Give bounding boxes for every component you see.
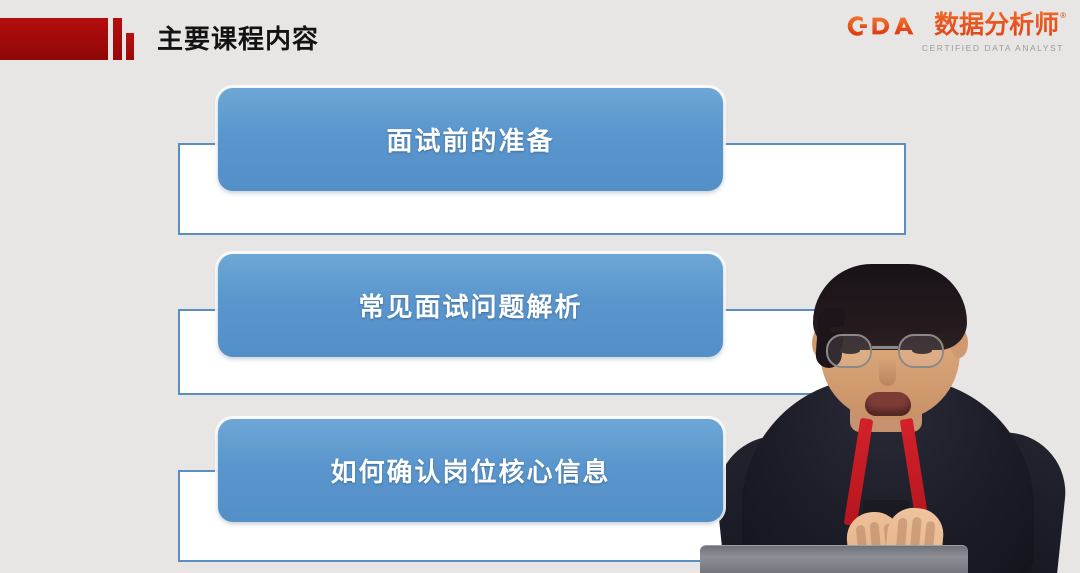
slide-canvas: 主要课程内容 数据分析师 ® <box>0 0 1080 573</box>
logo-name-cn: 数据分析师 <box>934 10 1059 41</box>
registered-mark-icon: ® <box>1060 11 1066 20</box>
content-item-2-label: 常见面试问题解析 <box>358 287 582 324</box>
presenter-glasses-lens-left <box>826 334 872 368</box>
content-item-2[interactable]: 常见面试问题解析 <box>218 254 723 357</box>
content-item-1-label: 面试前的准备 <box>386 121 554 158</box>
content-item-1[interactable]: 面试前的准备 <box>218 88 723 191</box>
content-item-3-label: 如何确认岗位核心信息 <box>330 452 610 489</box>
content-item-3[interactable]: 如何确认岗位核心信息 <box>218 419 723 522</box>
presenter-glasses-lens-right <box>898 334 944 368</box>
header-accent-bar-short <box>126 33 134 60</box>
logo-tagline: CERTIFIED DATA ANALYST <box>846 43 1064 53</box>
cda-wordmark-icon <box>846 10 928 42</box>
header-accent-block <box>0 18 108 60</box>
slide-header: 主要课程内容 数据分析师 ® <box>0 0 1080 72</box>
presenter-glasses-bridge <box>872 346 898 349</box>
presenter-nose <box>879 358 896 386</box>
laptop-device <box>700 545 968 573</box>
presenter-mouth <box>865 392 911 416</box>
page-title: 主要课程内容 <box>157 23 319 55</box>
cda-logo: 数据分析师 ® CERTIFIED DATA ANALYST <box>846 10 1066 58</box>
presenter-video-overlay <box>700 250 1080 573</box>
header-accent-bar-tall <box>113 18 122 60</box>
